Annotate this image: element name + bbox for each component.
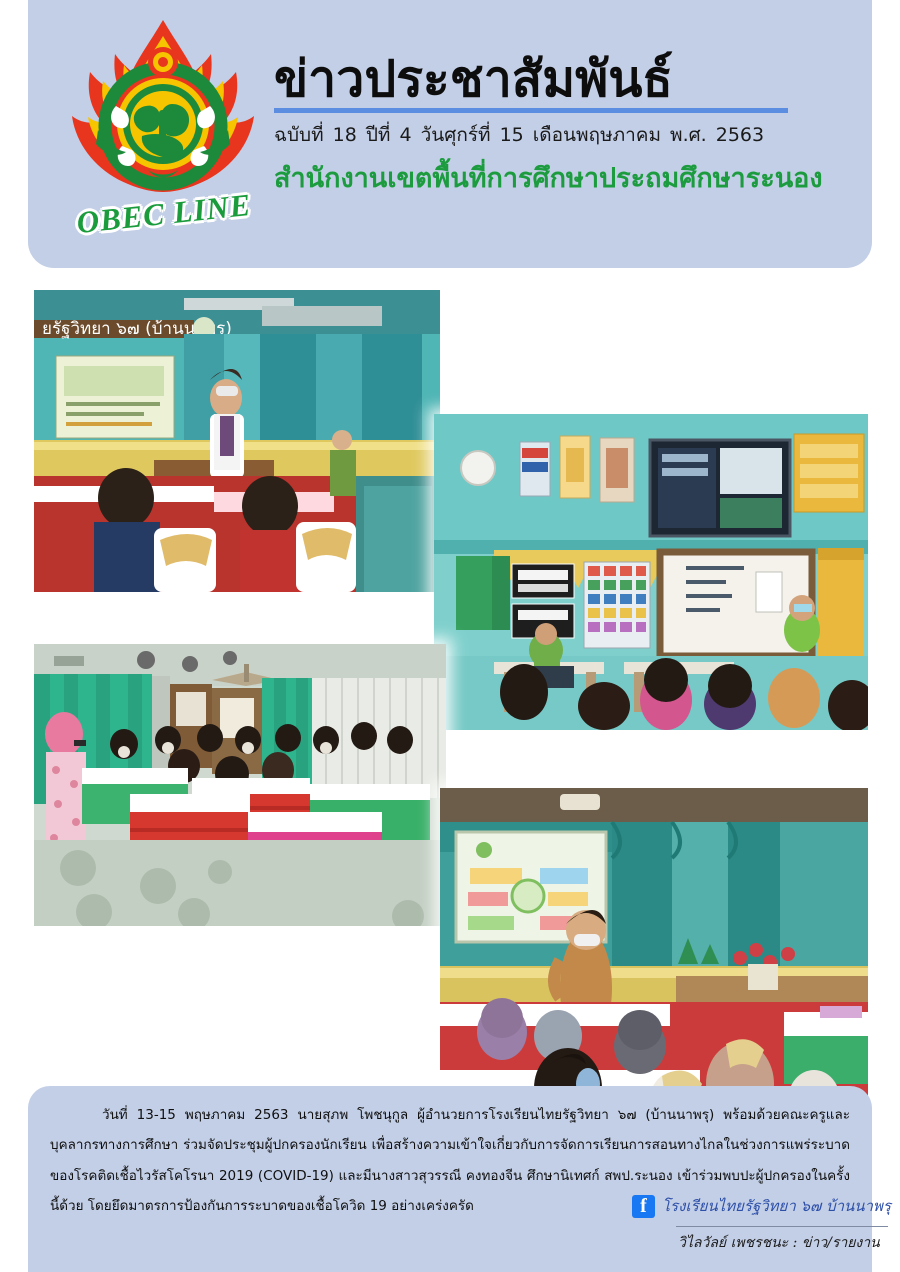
photo-auditorium-speaker-image: ยรัฐวิทยา ๖๗ (บ้านนาพรุ) [34,290,440,592]
masthead: ข่าวประชาสัมพันธ์ ฉบับที่ 18 ปีที่ 4 วัน… [274,52,854,199]
facebook-page-name[interactable]: โรงเรียนไทยรัฐวิทยา ๖๗ บ้านนาพรุ [662,1194,891,1218]
photo-hall-presentation-image [440,788,868,1128]
photo-hall-presentation-screen [440,788,868,1128]
photo-collage: ยรัฐวิทยา ๖๗ (บ้านนาพรุ) [0,268,900,1080]
byline: วิไลวัลย์ เพชรชนะ : ข่าว/รายงาน [678,1232,880,1254]
photo-classroom-green-shirt-teacher [434,414,868,730]
title-divider [274,108,788,113]
obec-garuda-emblem-icon [68,14,258,214]
facebook-badge[interactable]: f โรงเรียนไทยรัฐวิทยา ๖๗ บ้านนาพรุ [632,1194,891,1218]
photo-meeting-room-pink-tables [34,644,446,926]
page-title: ข่าวประชาสัมพันธ์ [274,52,854,106]
header-panel: OBEC LINE ข่าวประชาสัมพันธ์ ฉบับที่ 18 ป… [28,0,872,268]
article-panel: วันที่ 13-15 พฤษภาคม 2563 นายสุภพ โพชนุก… [28,1086,872,1272]
photo-meeting-room-image [34,644,446,926]
photo-classroom-image [434,414,868,730]
facebook-icon[interactable]: f [632,1195,655,1218]
obec-logo: OBEC LINE [68,14,258,246]
office-name: สำนักงานเขตพื้นที่การศึกษาประถมศึกษาระนอ… [274,156,854,199]
issue-line: ฉบับที่ 18 ปีที่ 4 วันศุกร์ที่ 15 เดือนพ… [274,120,854,150]
byline-divider [676,1226,888,1227]
photo-auditorium-speaker: ยรัฐวิทยา ๖๗ (บ้านนาพรุ) [34,290,440,592]
